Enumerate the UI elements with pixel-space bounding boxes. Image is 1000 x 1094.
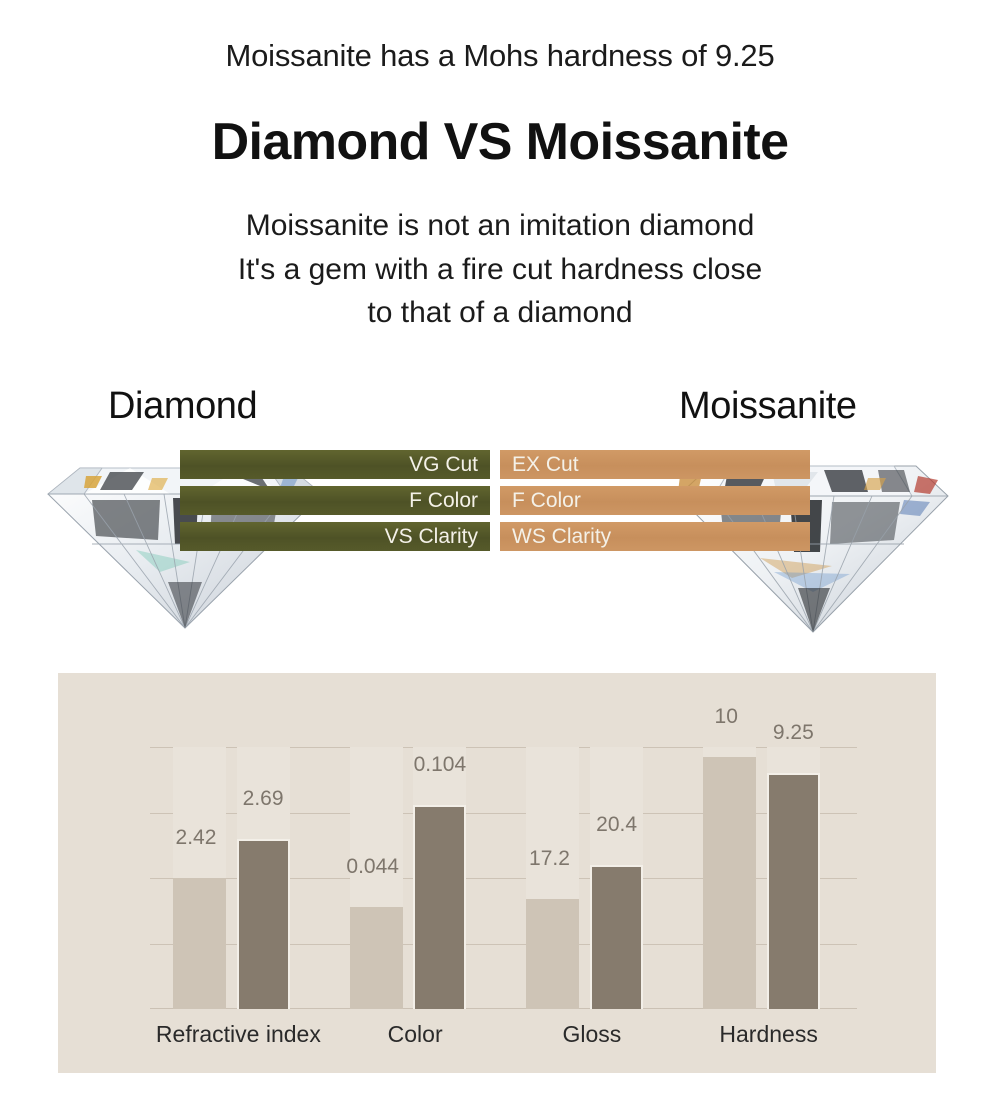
bar-dark [237,839,290,1009]
infographic-page: Moissanite has a Mohs hardness of 9.25 D… [0,0,1000,1094]
chart-group: 2.422.69Refractive index [150,747,327,1009]
category-label: Color [388,1021,443,1048]
badge-ws-clarity: WS Clarity [500,522,810,551]
bar-dark [767,773,820,1009]
badge-ex-cut: EX Cut [500,450,810,479]
bar-value-label: 17.2 [529,847,570,871]
bar-value-label: 0.044 [346,855,399,879]
bar-value-label: 2.42 [176,826,217,850]
kicker-text: Moissanite has a Mohs hardness of 9.25 [0,38,1000,74]
bar-value-label: 0.104 [414,753,467,777]
badge-f-color-left: F Color [180,486,490,515]
subhead-block: Moissanite is not an imitation diamond I… [0,204,1000,335]
badge-vs-clarity: VS Clarity [180,522,490,551]
diamond-spec-badges: VG Cut F Color VS Clarity [180,450,490,551]
chart-group: 109.25Hardness [680,747,857,1009]
bar-light [173,878,226,1009]
chart-groups: 2.422.69Refractive index0.0440.104Color1… [150,747,857,1009]
category-label: Gloss [562,1021,621,1048]
diamond-heading: Diamond [108,385,257,428]
subhead-line-1: Moissanite is not an imitation diamond [0,204,1000,248]
category-label: Refractive index [156,1021,321,1048]
bar-value-label: 10 [715,705,738,729]
bar-light [526,899,579,1009]
page-title: Diamond VS Moissanite [0,112,1000,172]
moissanite-spec-badges: EX Cut F Color WS Clarity [500,450,810,551]
category-label: Hardness [719,1021,817,1048]
bar-dark [413,805,466,1009]
bar-light [703,757,756,1009]
subhead-line-2: It's a gem with a fire cut hardness clos… [0,248,1000,292]
badge-f-color-right: F Color [500,486,810,515]
bar-value-label: 2.69 [243,787,284,811]
chart-plot-area: 2.422.69Refractive index0.0440.104Color1… [150,747,857,1009]
chart-group: 17.220.4Gloss [504,747,681,1009]
badge-vg-cut: VG Cut [180,450,490,479]
chart-group: 0.0440.104Color [327,747,504,1009]
bar-value-label: 9.25 [773,721,814,745]
bar-value-label: 20.4 [596,813,637,837]
bar-dark [590,865,643,1009]
bar-light [350,907,403,1009]
subhead-line-3: to that of a diamond [0,291,1000,335]
moissanite-heading: Moissanite [679,385,857,428]
comparison-chart-panel: 2.422.69Refractive index0.0440.104Color1… [58,673,936,1073]
